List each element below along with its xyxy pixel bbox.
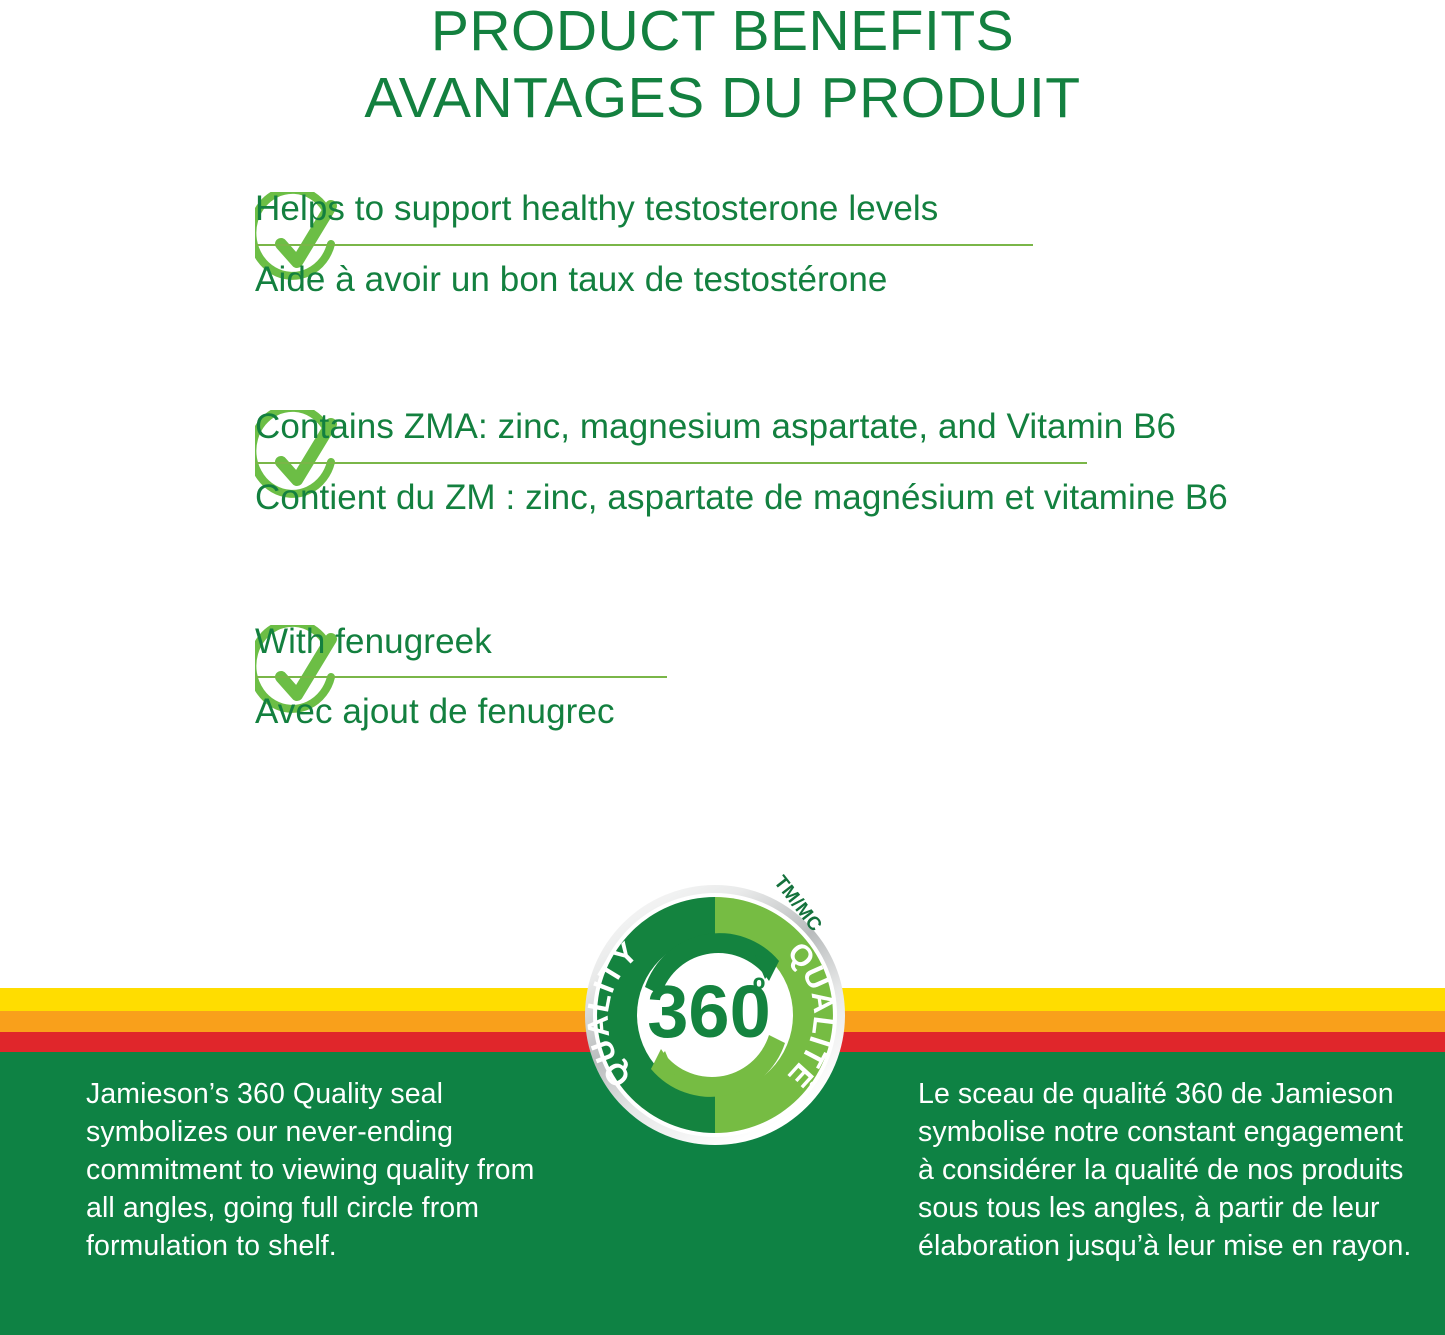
footer-paragraph-fr: Le sceau de qualité 360 de Jamieson symb… xyxy=(918,1075,1418,1265)
benefit-text-fr: Contient du ZM : zinc, aspartate de magn… xyxy=(255,474,1405,522)
benefit-text: Contains ZMA: zinc, magnesium aspartate,… xyxy=(255,404,1445,522)
benefit-icon-wrap xyxy=(0,404,255,506)
benefit-text-en: With fenugreek xyxy=(255,619,1405,671)
benefit-item: With fenugreek Avec ajout de fenugrec xyxy=(0,619,1445,737)
seal-degree-symbol: º xyxy=(753,971,765,1009)
benefit-divider xyxy=(255,676,667,678)
benefit-icon-wrap xyxy=(0,619,255,721)
benefit-divider xyxy=(255,244,1033,246)
benefit-text-en: Contains ZMA: zinc, magnesium aspartate,… xyxy=(255,404,1405,456)
footer-paragraph-en: Jamieson’s 360 Quality seal symbolizes o… xyxy=(86,1075,566,1265)
benefits-list: Helps to support healthy testosterone le… xyxy=(0,186,1445,736)
benefit-text: With fenugreek Avec ajout de fenugrec xyxy=(255,619,1445,737)
benefit-icon-wrap xyxy=(0,186,255,288)
product-benefits-panel: PRODUCT BENEFITS AVANTAGES DU PRODUIT He… xyxy=(0,0,1445,1335)
benefit-text: Helps to support healthy testosterone le… xyxy=(255,186,1445,304)
benefit-text-fr: Avec ajout de fenugrec xyxy=(255,688,1405,736)
page-title-en: PRODUCT BENEFITS xyxy=(0,0,1445,60)
benefit-item: Contains ZMA: zinc, magnesium aspartate,… xyxy=(0,404,1445,522)
benefit-divider xyxy=(255,462,1087,464)
benefit-text-fr: Aide à avoir un bon taux de testostérone xyxy=(255,256,1405,304)
page-title: PRODUCT BENEFITS AVANTAGES DU PRODUIT xyxy=(0,0,1445,127)
benefit-text-en: Helps to support healthy testosterone le… xyxy=(255,186,1405,238)
page-title-fr: AVANTAGES DU PRODUIT xyxy=(0,60,1445,127)
benefit-item: Helps to support healthy testosterone le… xyxy=(0,186,1445,304)
